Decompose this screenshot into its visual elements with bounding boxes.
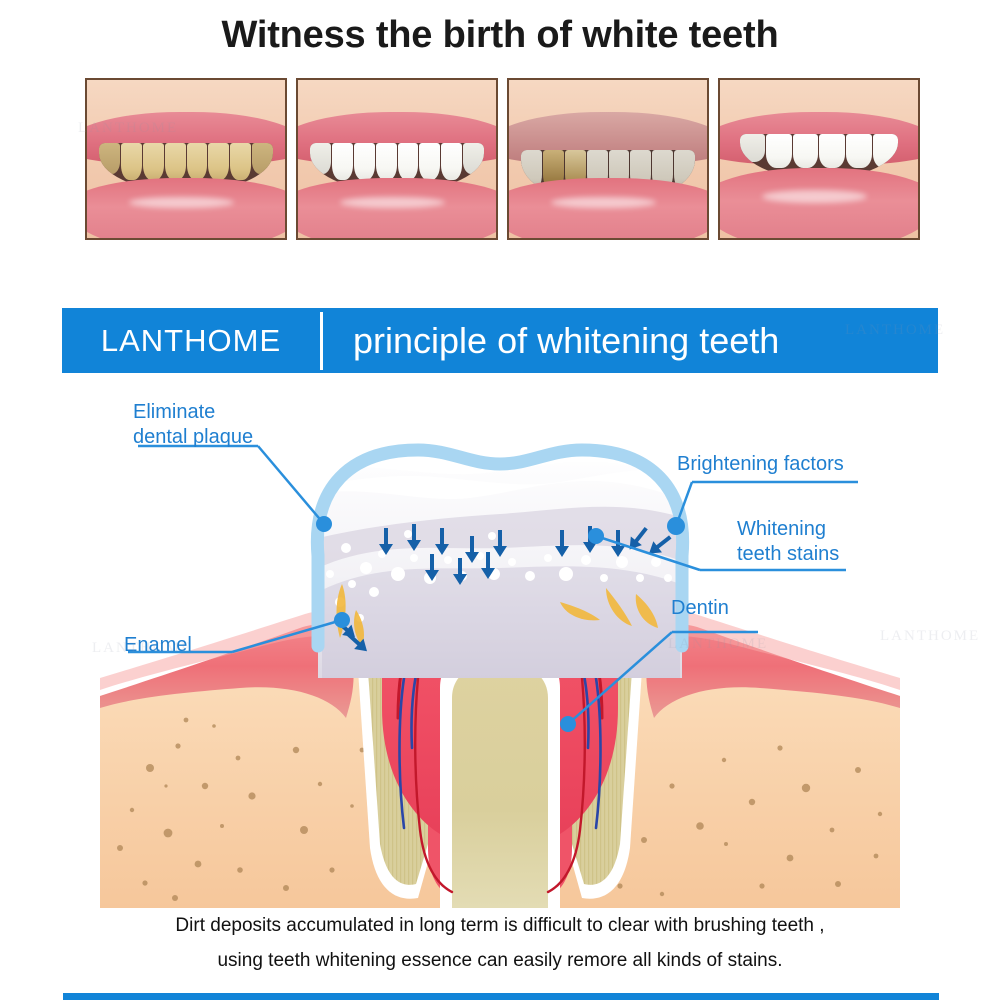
bottom-accent-bar	[63, 993, 939, 1000]
callout-label-whitening-teeth-stains: Whitening teeth stains	[737, 517, 839, 567]
before-after-photo-strip	[85, 78, 920, 240]
page-title: Witness the birth of white teeth	[0, 14, 1000, 57]
brand-name: LANTHOME	[62, 323, 320, 359]
anchor-dot-brightening	[667, 517, 685, 535]
caption-line-2: using teeth whitening essence can easily…	[0, 943, 1000, 978]
photo-after-white-teeth-smile	[296, 78, 498, 240]
photo-after-clean-white-teeth	[718, 78, 920, 240]
crown-enamel	[300, 438, 700, 678]
anchor-dot-dentin	[560, 716, 576, 732]
banner-subject: principle of whitening teeth	[323, 320, 938, 362]
callout-label-plaque: Eliminate dental plaque	[133, 400, 253, 450]
anchor-dot-enamel	[334, 612, 350, 628]
photo-before-yellow-teeth-smile	[85, 78, 287, 240]
lower-lip	[85, 178, 287, 240]
callout-label-enamel: Enamel	[124, 633, 192, 658]
photo-before-heavily-stained-teeth	[507, 78, 709, 240]
brand-banner: LANTHOME principle of whitening teeth	[62, 308, 938, 373]
lower-lip	[296, 178, 498, 240]
callout-label-dentin: Dentin	[671, 596, 729, 621]
anchor-dot-plaque	[316, 516, 332, 532]
lower-lip	[507, 178, 709, 240]
anchor-dot-stains	[588, 528, 604, 544]
callout-label-brightening-factors: Brightening factors	[677, 452, 844, 477]
bottom-caption: Dirt deposits accumulated in long term i…	[0, 908, 1000, 978]
lower-lip	[718, 168, 920, 240]
page-root: Witness the birth of white teeth	[0, 0, 1000, 1000]
caption-line-1: Dirt deposits accumulated in long term i…	[0, 908, 1000, 943]
